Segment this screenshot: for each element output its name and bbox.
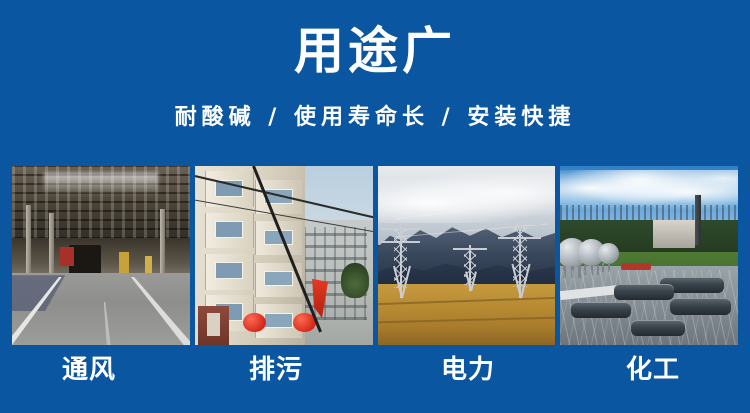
transmission-tower-right — [502, 218, 538, 299]
power-transmission-towers-photo — [378, 166, 556, 345]
transmission-tower-left — [385, 223, 417, 298]
street-tree — [341, 263, 369, 299]
caption-chemical: 化工 — [626, 354, 680, 386]
window-pane — [264, 271, 294, 286]
application-gallery — [12, 166, 738, 345]
window-pane — [215, 262, 244, 279]
gallery-captions: 通风 排污 电力 化工 — [0, 354, 750, 390]
red-lantern-left — [243, 313, 266, 333]
factory-workshop-interior-photo — [12, 166, 190, 345]
red-equipment — [621, 263, 651, 270]
gallery-item-ventilation[interactable] — [12, 166, 190, 345]
residential-building-photo — [195, 166, 373, 345]
workshop-red-object — [60, 247, 74, 267]
street-level-doorway — [198, 306, 228, 345]
building-bay-window-2 — [205, 213, 253, 249]
plant-building — [653, 220, 696, 249]
window-pane — [264, 313, 294, 328]
plant-chimney — [695, 195, 700, 245]
promo-banner: 用途广 耐酸碱 / 使用寿命长 / 安装快捷 — [0, 0, 750, 413]
gallery-item-sewage[interactable] — [195, 166, 373, 345]
horizontal-vessel-4 — [670, 298, 730, 314]
chemical-plant-photo — [560, 166, 738, 345]
building-bay-window-3 — [205, 254, 253, 290]
gallery-item-power[interactable] — [378, 166, 556, 345]
workshop-column-right — [160, 209, 164, 277]
caption-ventilation: 通风 — [62, 354, 116, 386]
transmission-tower-center — [456, 245, 484, 292]
page-title: 用途广 — [0, 22, 750, 80]
caption-sewage: 排污 — [249, 354, 303, 386]
horizontal-vessel-1 — [571, 302, 631, 318]
gallery-item-chemical[interactable] — [560, 166, 738, 345]
workshop-column-left — [26, 205, 30, 277]
caption-power: 电力 — [441, 354, 495, 386]
horizontal-vessel-5 — [631, 320, 684, 336]
window-pane — [215, 221, 244, 238]
horizontal-vessel-2 — [614, 284, 674, 300]
subtitle-features: 耐酸碱 / 使用寿命长 / 安装快捷 — [0, 103, 750, 133]
workshop-column-mid — [49, 213, 53, 277]
cloud-layer — [378, 173, 556, 223]
